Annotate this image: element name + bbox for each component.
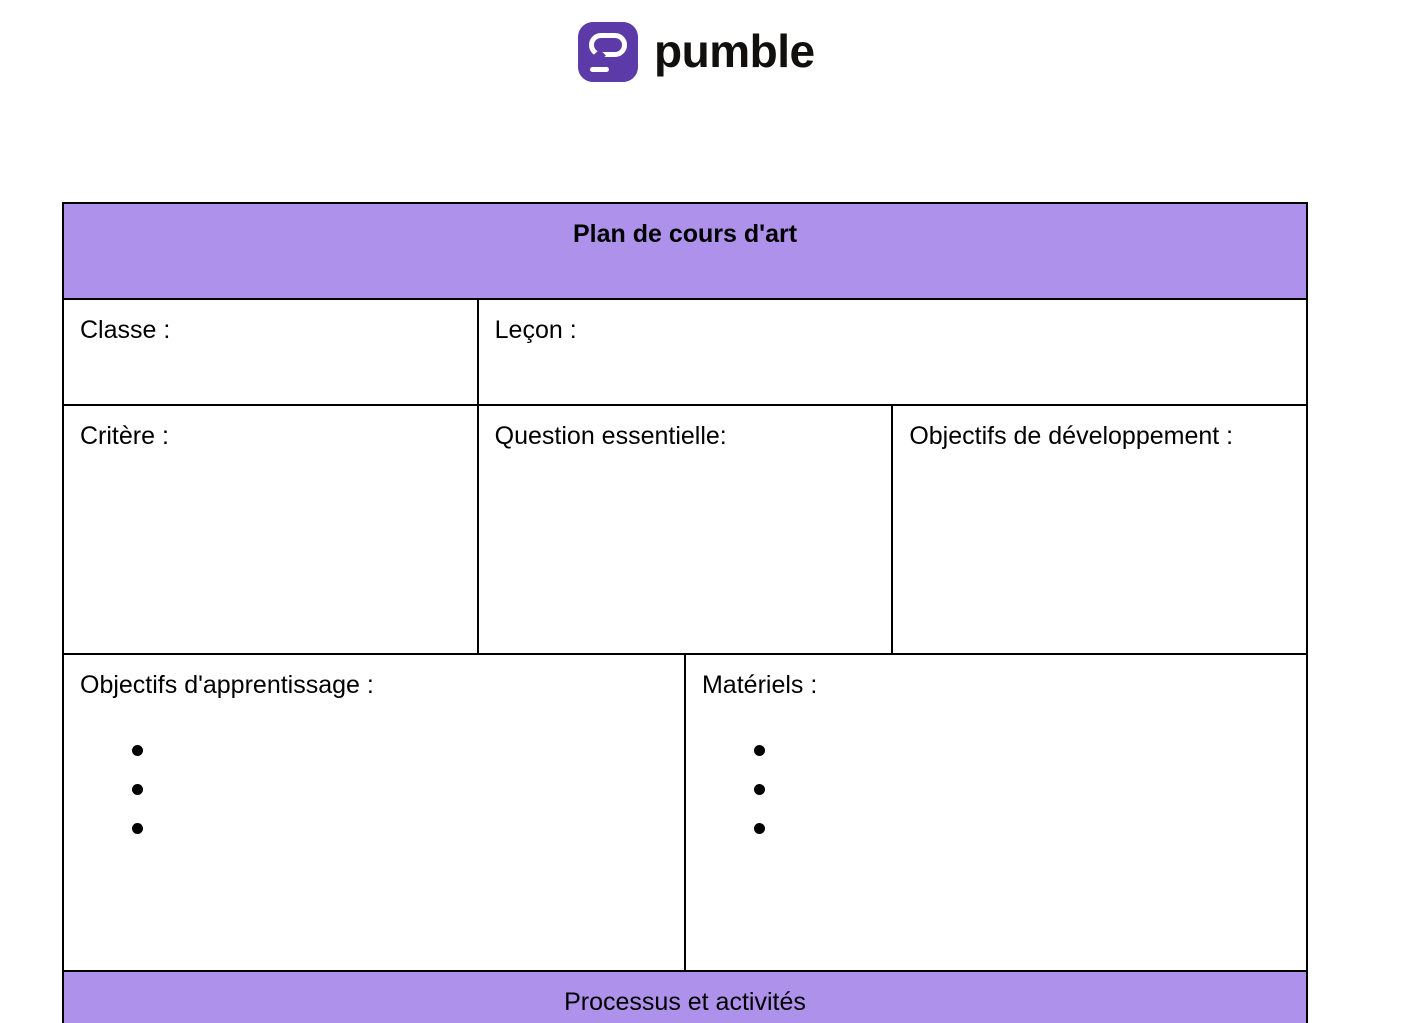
list-item[interactable] (702, 737, 1290, 776)
field-materiels-label: Matériels : (702, 669, 1290, 703)
bubble-underline (590, 67, 609, 72)
table-row-objectives-materials: Objectifs d'apprentissage : Matériels : (63, 654, 1307, 971)
list-item[interactable] (80, 815, 668, 854)
materiels-bullet-list (702, 737, 1290, 854)
field-objectifs-apprentissage[interactable]: Objectifs d'apprentissage : (63, 654, 685, 971)
pumble-logo: pumble (578, 22, 815, 82)
table-row-class-lesson: Classe : Leçon : (63, 299, 1307, 405)
list-item[interactable] (80, 737, 668, 776)
list-item[interactable] (702, 776, 1290, 815)
document-page: pumble Plan de cours d'art Classe : Leço… (0, 0, 1403, 1023)
section-header-processus: Processus et activités (63, 971, 1307, 1023)
list-item[interactable] (702, 815, 1290, 854)
table-row-process-header: Processus et activités (63, 971, 1307, 1023)
field-lecon[interactable]: Leçon : (478, 299, 1307, 405)
pumble-chat-bubble-icon (578, 22, 638, 82)
field-classe[interactable]: Classe : (63, 299, 478, 405)
brand-name: pumble (654, 28, 815, 77)
field-objectifs-apprentissage-label: Objectifs d'apprentissage : (80, 669, 668, 703)
field-question-essentielle[interactable]: Question essentielle: (478, 405, 893, 654)
table-row-title: Plan de cours d'art (63, 203, 1307, 299)
objectifs-bullet-list (80, 737, 668, 854)
bubble-outline (589, 33, 627, 57)
field-critere[interactable]: Critère : (63, 405, 478, 654)
list-item[interactable] (80, 776, 668, 815)
field-objectifs-developpement[interactable]: Objectifs de développement : (892, 405, 1307, 654)
field-materiels[interactable]: Matériels : (685, 654, 1307, 971)
lesson-plan-table: Plan de cours d'art Classe : Leçon : Cri… (62, 202, 1308, 1023)
table-row-criteria: Critère : Question essentielle: Objectif… (63, 405, 1307, 654)
plan-title: Plan de cours d'art (63, 203, 1307, 299)
